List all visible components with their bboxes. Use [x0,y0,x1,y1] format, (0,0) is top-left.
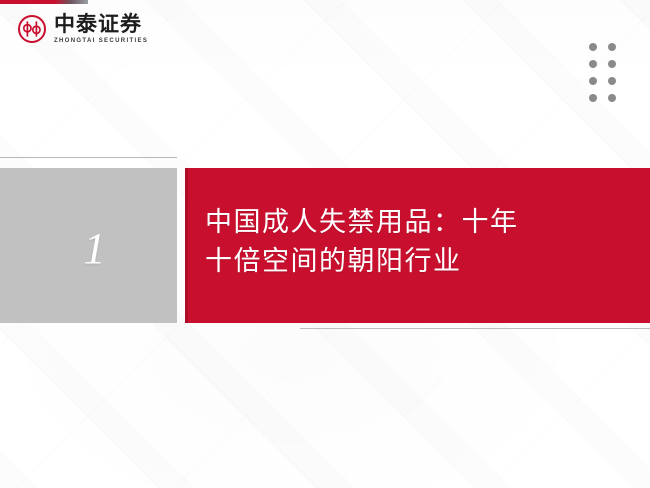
brand-logo-text: 中泰证券 ZHONGTAI SECURITIES [54,14,148,44]
dot [608,43,616,51]
brand-logo: 中泰证券 ZHONGTAI SECURITIES [17,14,148,44]
slide-title-block: 中国成人失禁用品：十年 十倍空间的朝阳行业 [185,168,650,323]
dot [589,77,597,85]
brand-name-cn: 中泰证券 [54,14,148,35]
divider-below-title-block [300,328,650,329]
divider-above-number-block [0,157,177,158]
presentation-slide: 中泰证券 ZHONGTAI SECURITIES 1 中国成人失禁用品：十年 十… [0,0,650,488]
zhongtai-circle-emblem-icon [17,14,47,44]
chapter-number: 1 [84,227,106,271]
dot [608,77,616,85]
dot [608,94,616,102]
dot [589,43,597,51]
dot [589,94,597,102]
brand-name-en: ZHONGTAI SECURITIES [54,38,148,44]
top-left-accent-bar [0,0,88,4]
chapter-number-block: 1 [0,168,177,323]
dot [589,60,597,68]
slide-title: 中国成人失禁用品：十年 十倍空间的朝阳行业 [185,204,519,287]
dot-grid-decoration [589,43,616,102]
dot [608,60,616,68]
